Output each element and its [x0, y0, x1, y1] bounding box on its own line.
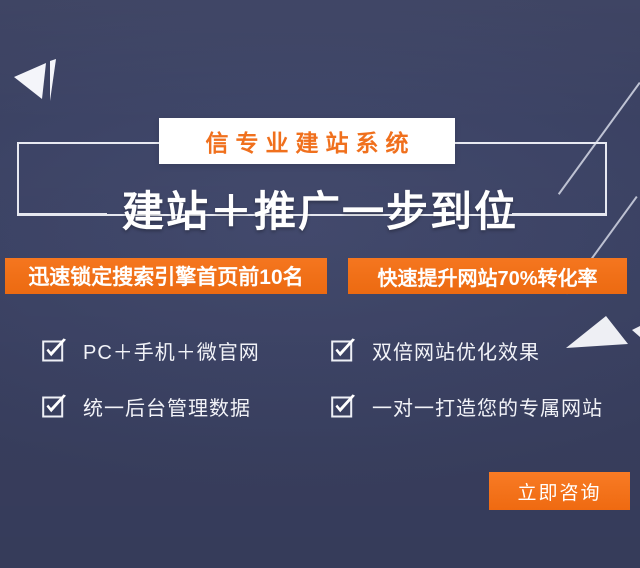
promo-banner-2: 快速提升网站70%转化率 [348, 258, 627, 294]
tagline-text: 信专业建站系统 [199, 124, 416, 158]
checkbox-checked-icon [42, 338, 67, 363]
checkbox-checked-icon [331, 394, 356, 419]
headline-text: 建站＋推广一步到位 [108, 178, 532, 239]
checkbox-checked-icon [42, 394, 67, 419]
feature-label: PC＋手机＋微官网 [83, 336, 260, 365]
page-title: 建站＋推广一步到位 [0, 178, 640, 239]
feature-item: 一对一打造您的专属网站 [331, 392, 603, 421]
feature-list: PC＋手机＋微官网 双倍网站优化效果 统一后台管理数据 [0, 330, 640, 440]
promo-banner-2-text: 快速提升网站70%转化率 [377, 262, 597, 291]
promo-banner: 信专业建站系统 建站＋推广一步到位 迅速锁定搜索引擎首页前10名 快速提升网站7… [0, 0, 640, 568]
promo-banner-1-text: 迅速锁定搜索引擎首页前10名 [28, 261, 303, 291]
consult-now-button[interactable]: 立即咨询 [489, 472, 630, 510]
promo-banner-1: 迅速锁定搜索引擎首页前10名 [5, 258, 327, 294]
feature-item: 统一后台管理数据 [42, 392, 251, 421]
feature-label: 双倍网站优化效果 [372, 336, 540, 365]
consult-now-button-label: 立即咨询 [517, 478, 601, 505]
checkbox-checked-icon [331, 338, 356, 363]
feature-item: PC＋手机＋微官网 [42, 336, 260, 365]
tagline-badge: 信专业建站系统 [159, 118, 455, 164]
paper-plane-left-icon [12, 55, 68, 103]
feature-label: 一对一打造您的专属网站 [372, 392, 603, 421]
feature-item: 双倍网站优化效果 [331, 336, 540, 365]
feature-label: 统一后台管理数据 [83, 392, 251, 421]
